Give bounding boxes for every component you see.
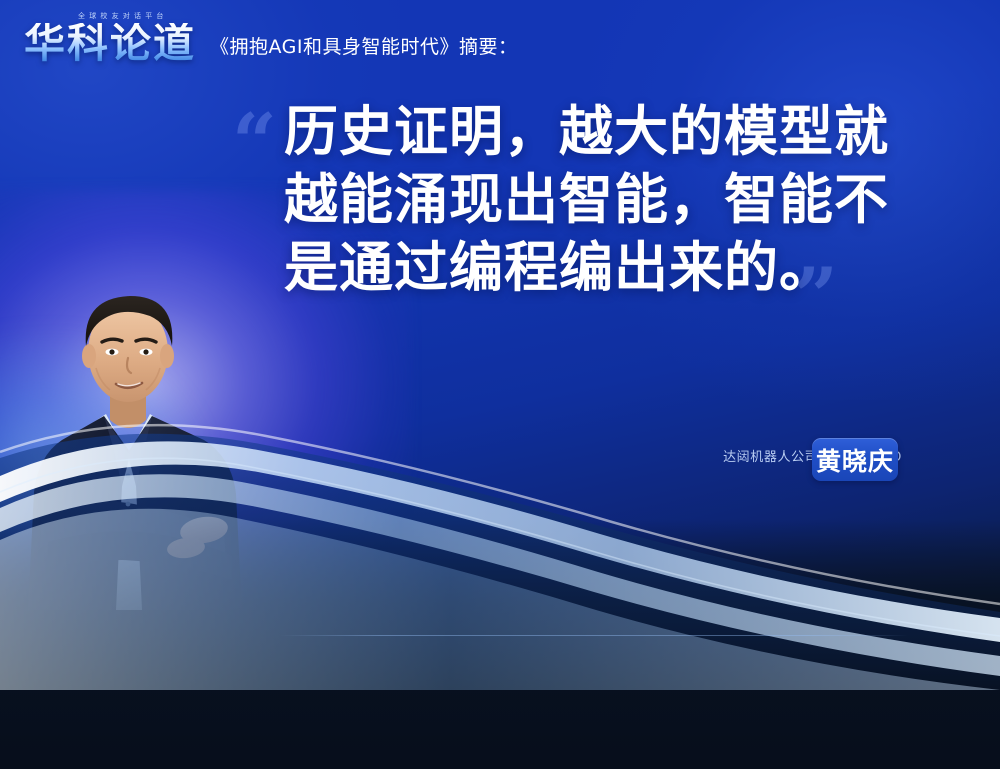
- speaker-name: 黄晓庆: [816, 442, 894, 478]
- quote-line: 越能涌现出智能，智能不: [284, 166, 974, 234]
- page-title: 《拥抱AGI和具身智能时代》摘要：: [210, 32, 518, 64]
- quote-line: 是通过编程编出来的。: [284, 234, 974, 302]
- poster-footer: 入群请咨询工作人员： 微信号 srh15029033920 (苏同学) 微信号 …: [0, 640, 1000, 769]
- brand-logo: 全球校友对话平台 华科论道: [24, 14, 196, 64]
- speaker-name-badge: 黄晓庆: [812, 438, 898, 481]
- footer-divider: [280, 635, 908, 636]
- poster-canvas: 全球校友对话平台 华科论道 《拥抱AGI和具身智能时代》摘要： “ ” 历史证明…: [0, 0, 1000, 769]
- poster-header: 全球校友对话平台 华科论道 《拥抱AGI和具身智能时代》摘要：: [24, 14, 518, 64]
- quote-line: 历史证明，越大的模型就: [284, 98, 974, 166]
- quote-block: “ ” 历史证明，越大的模型就 越能涌现出智能，智能不 是通过编程编出来的。: [232, 98, 974, 302]
- quote-text: 历史证明，越大的模型就 越能涌现出智能，智能不 是通过编程编出来的。: [232, 98, 974, 302]
- brand-name: 华科论道: [24, 23, 196, 64]
